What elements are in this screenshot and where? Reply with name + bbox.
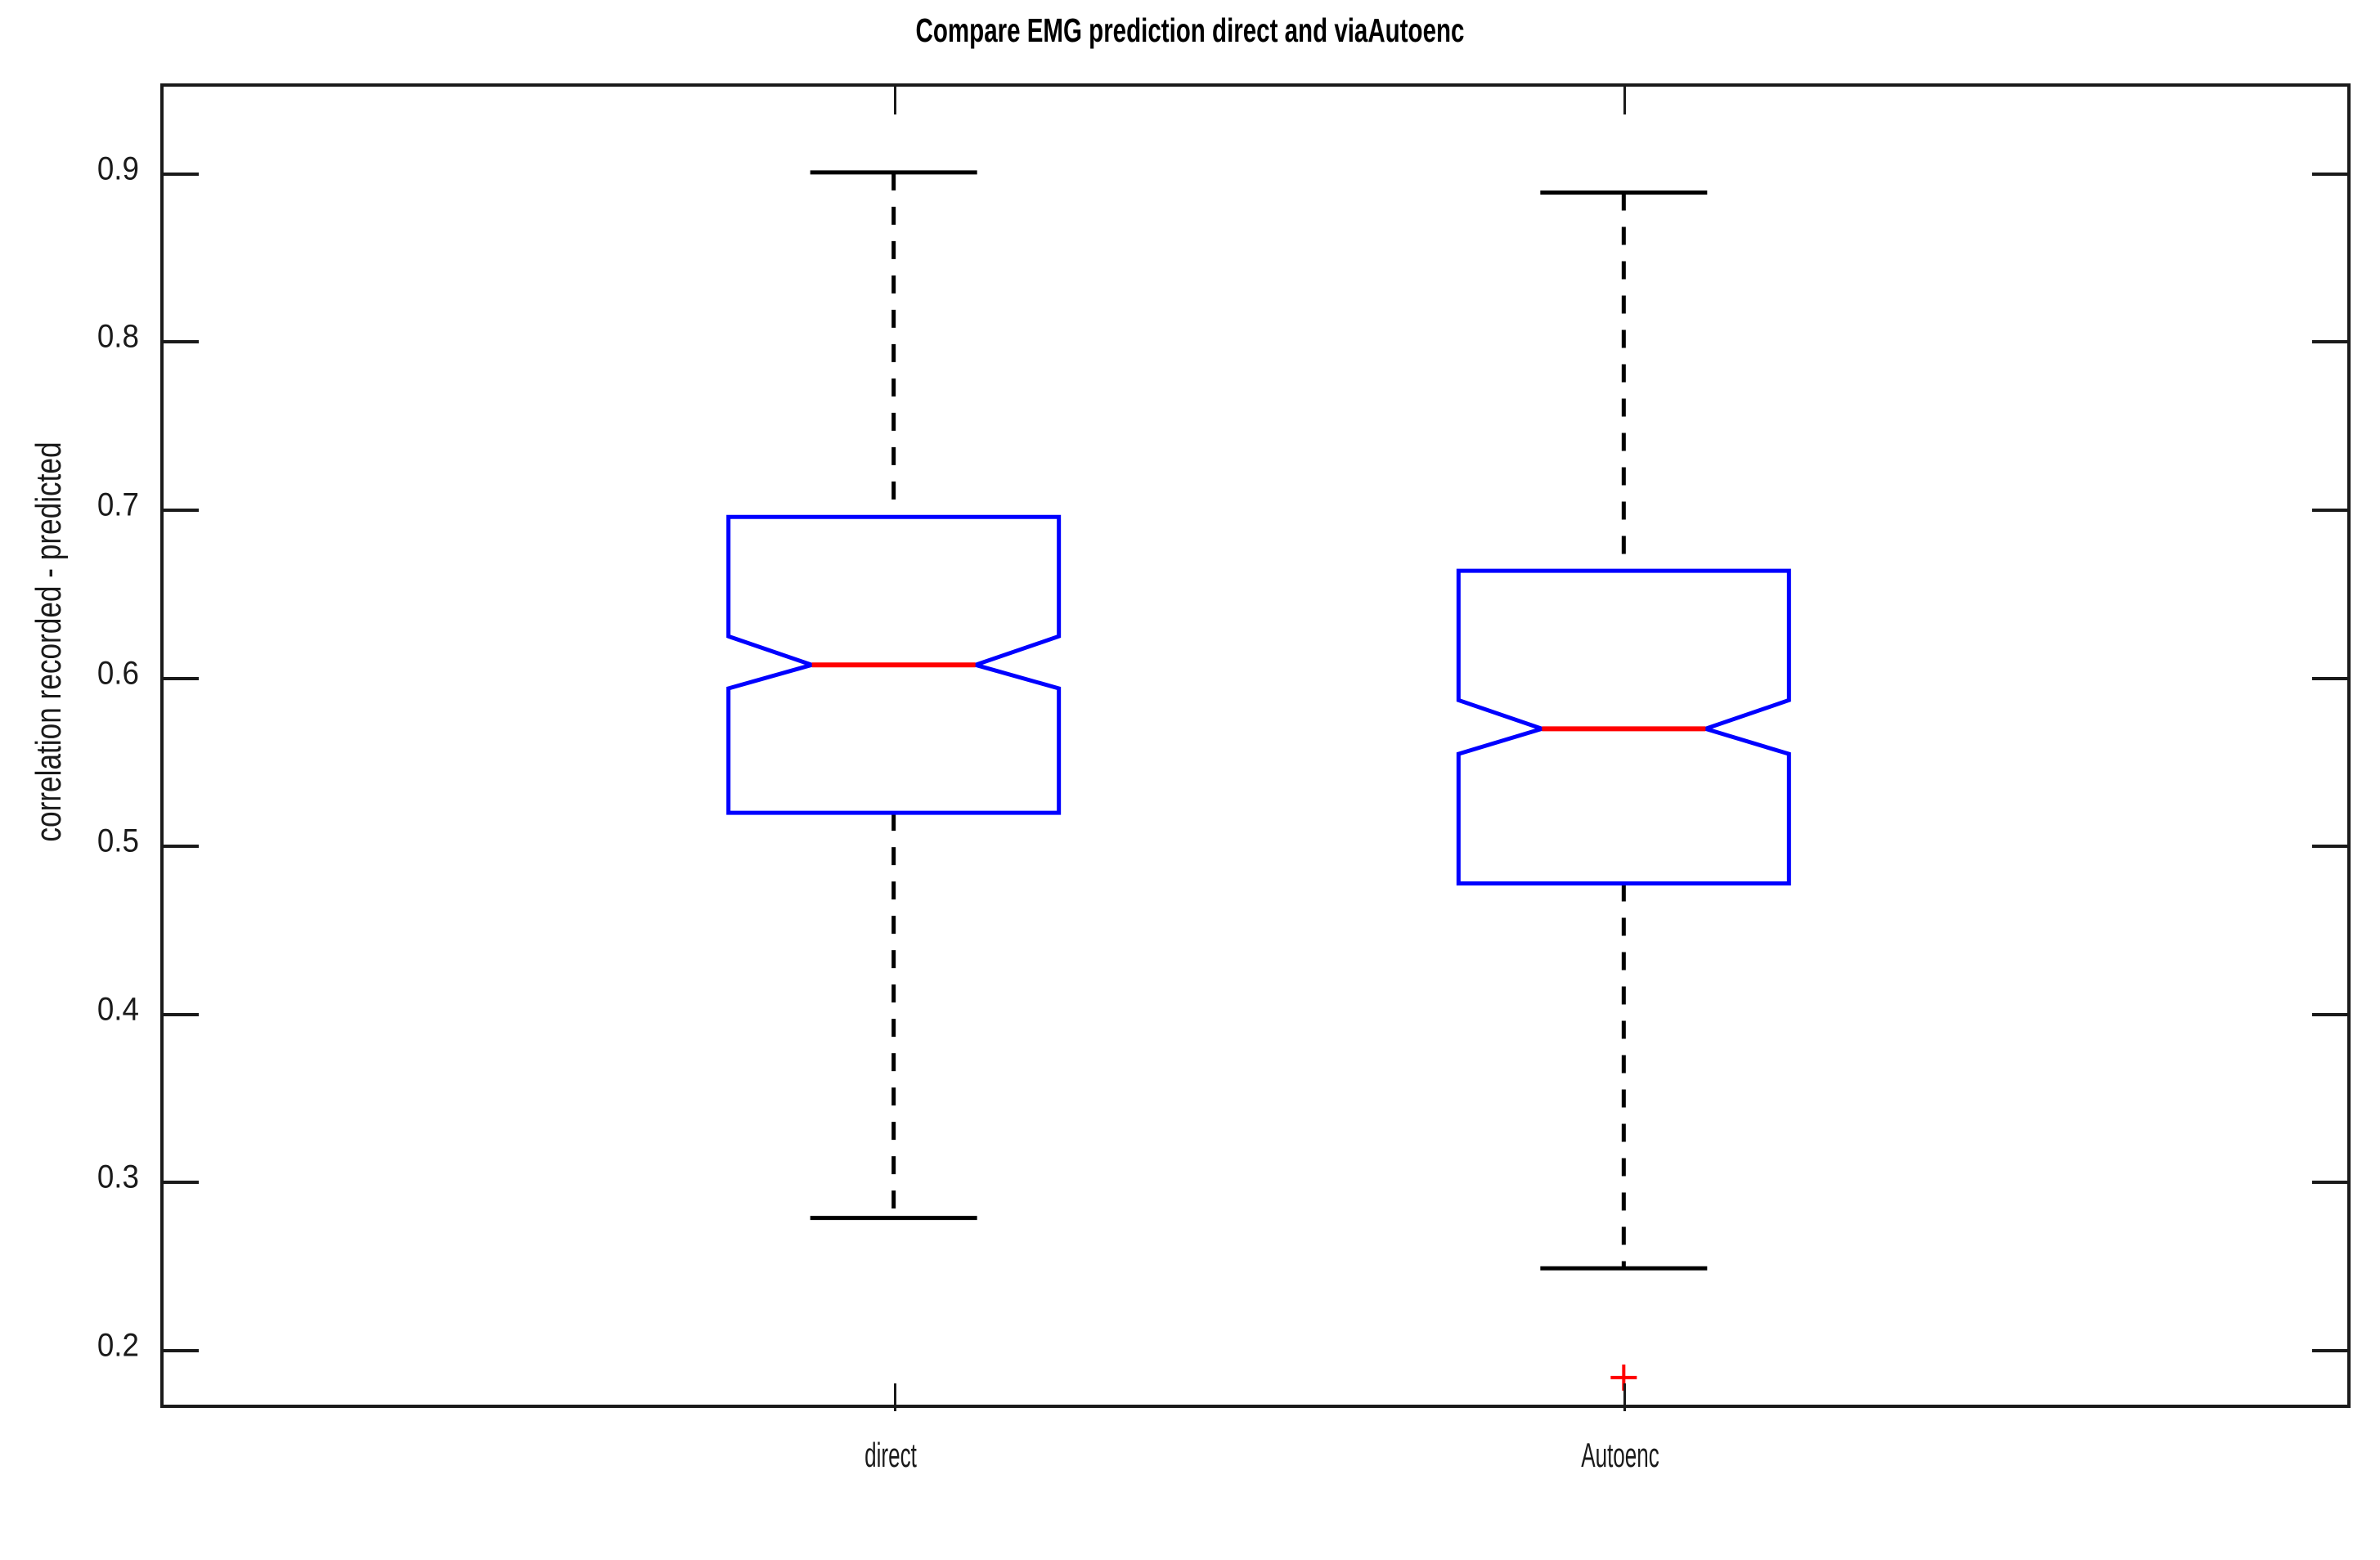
y-tick-mark [2312,509,2347,512]
y-tick-label: 0.8 [11,319,139,356]
x-tick-mark [1623,1383,1626,1411]
figure-canvas: Compare EMG prediction direct and viaAut… [0,0,2380,1560]
chart-title: Compare EMG prediction direct and viaAut… [333,11,2046,50]
y-tick-mark [164,173,199,176]
box-outline [729,517,1059,813]
x-tick-mark [894,1383,896,1411]
y-tick-mark [2312,1013,2347,1016]
y-tick-mark [164,1349,199,1352]
plot-area [160,83,2351,1408]
y-tick-mark [2312,173,2347,176]
y-tick-mark [2312,1349,2347,1352]
y-tick-label: 0.4 [11,991,139,1028]
y-tick-mark [2312,677,2347,680]
x-tick-label-direct: direct [864,1436,917,1475]
box-outline [1458,571,1789,883]
y-tick-mark [164,340,199,343]
y-tick-mark [164,677,199,680]
y-tick-mark [2312,1181,2347,1184]
y-tick-mark [164,845,199,848]
x-tick-label-autoenc: Autoenc [1582,1436,1660,1475]
x-tick-mark [1623,87,1626,114]
y-tick-label: 0.9 [11,150,139,187]
y-tick-mark [2312,340,2347,343]
y-tick-label: 0.6 [11,655,139,692]
boxplot-layer [164,87,2354,1411]
y-tick-label: 0.7 [11,487,139,524]
y-tick-label: 0.2 [11,1327,139,1364]
y-tick-mark [2312,845,2347,848]
y-tick-label: 0.5 [11,823,139,860]
y-tick-mark [164,1181,199,1184]
x-tick-mark [894,87,896,114]
y-tick-mark [164,1013,199,1016]
y-tick-label: 0.3 [11,1159,139,1196]
y-tick-mark [164,509,199,512]
